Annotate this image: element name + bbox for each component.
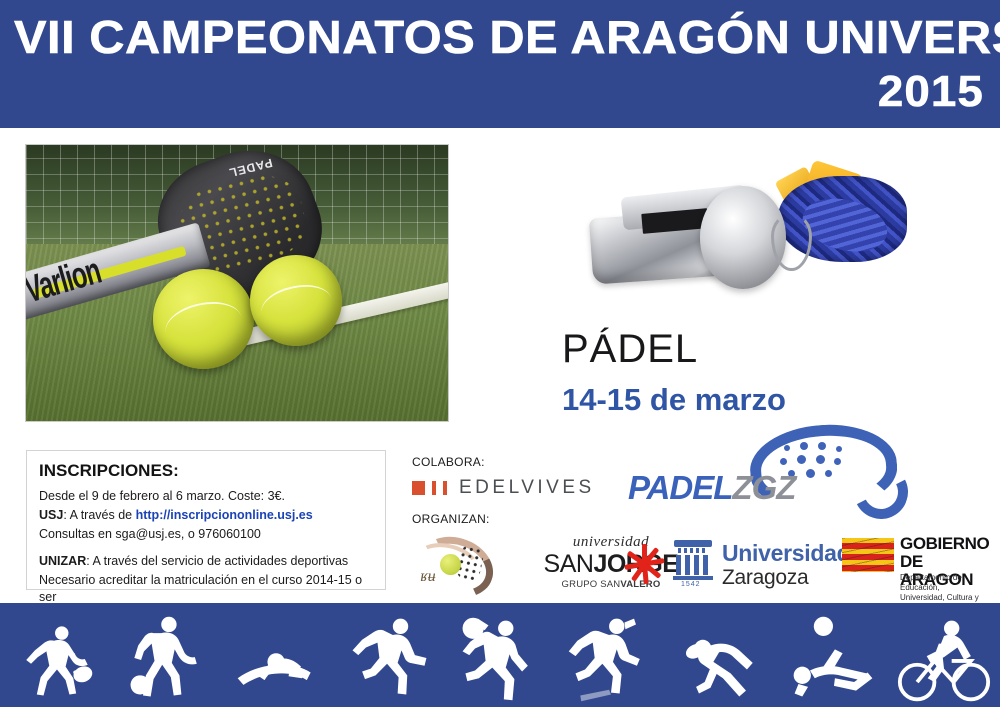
- edelvives-wordmark: EDELVIVES: [459, 477, 595, 499]
- ball-icon: [440, 554, 461, 575]
- padelzgz-logo: PADELZGZ: [622, 425, 892, 505]
- organizers-row: ʁʉ universidad SANJORGE GRUPO SANVALERO: [410, 530, 992, 592]
- edelvives-square-icon: [412, 481, 425, 495]
- unizar-building-icon: 1542: [672, 538, 714, 586]
- building-roof: [674, 540, 712, 547]
- inscriptions-requirement-line-1: Necesario acreditar la matriculación en …: [39, 572, 373, 606]
- inscriptions-heading: INSCRIPCIONES:: [39, 461, 373, 481]
- female-runner-silhouette: [563, 611, 659, 707]
- sanjorge-star-icon: [622, 542, 666, 586]
- header-year: 2015: [878, 70, 984, 114]
- edelvives-bar-icon: [443, 481, 447, 495]
- grupo-san: GRUPO SAN: [562, 579, 621, 590]
- racket-brand-text: Varlion: [25, 250, 105, 313]
- basketball-player-silhouette: [119, 611, 215, 707]
- usj-padel-mark-logo: ʁʉ: [412, 532, 494, 590]
- gobierno-line-1: GOBIERNO: [900, 535, 989, 553]
- sprinter-silhouette: [341, 611, 437, 707]
- unizar-line-2: Zaragoza: [722, 566, 808, 590]
- usj-text: : A través de: [63, 508, 135, 522]
- tennis-player-silhouette: [8, 611, 104, 707]
- inscriptions-usj-contact: Consultas en sga@usj.es, o 976060100: [39, 526, 373, 543]
- tennis-ball: [153, 269, 254, 368]
- swimmer-silhouette: [230, 611, 326, 707]
- usj-label: USJ: [39, 508, 63, 522]
- inscriptions-unizar-line: UNIZAR: A través del servicio de activid…: [39, 553, 373, 570]
- soccer-bicycle-kick-silhouette: [785, 611, 881, 707]
- edelvives-logo: EDELVIVES: [412, 477, 595, 499]
- organizan-label: ORGANIZAN:: [412, 512, 490, 526]
- page-title: VII CAMPEONATOS DE ARAGÓN UNIVERSITARIOS: [14, 14, 1000, 60]
- cyclist-silhouette: [896, 611, 992, 707]
- gobierno-sub-1: Departamento de Educación,: [900, 573, 962, 592]
- poster-header: VII CAMPEONATOS DE ARAGÓN UNIVERSITARIOS…: [0, 0, 1000, 128]
- unizar-label: UNIZAR: [39, 554, 86, 568]
- aragon-flag-icon: [842, 538, 894, 572]
- building-frieze: [678, 548, 708, 553]
- inscriptions-usj-line: USJ: A través de http://inscripciononlin…: [39, 507, 373, 524]
- padel-racket-and-balls-photo: Varlion PADEL: [25, 144, 449, 422]
- building-columns: [676, 555, 710, 575]
- sport-title: PÁDEL: [562, 327, 698, 372]
- padelzgz-word-zgz: ZGZ: [732, 469, 795, 506]
- unizar-founding-year: 1542: [681, 581, 701, 588]
- gobierno-de-aragon-logo: GOBIERNO DE ARAGON Departamento de Educa…: [842, 530, 994, 592]
- spacer: [39, 545, 373, 553]
- handball-player-silhouette: [452, 611, 548, 707]
- silhouette-band: [0, 603, 1000, 707]
- usj-registration-link[interactable]: http://inscripciononline.usj.es: [136, 508, 313, 522]
- inscriptions-dates: Desde el 9 de febrero al 6 marzo. Coste:…: [39, 488, 373, 505]
- unizar-text: : A través del servicio de actividades d…: [86, 554, 348, 568]
- rugby-player-silhouette: [674, 611, 770, 707]
- signature-mark-icon: ʁʉ: [420, 568, 436, 586]
- padelzgz-wordmark: PADELZGZ: [628, 469, 795, 507]
- inscriptions-box: INSCRIPCIONES: Desde el 9 de febrero al …: [26, 450, 386, 590]
- padelzgz-word-padel: PADEL: [628, 469, 732, 506]
- edelvives-bar-icon: [432, 481, 436, 495]
- building-base: [673, 576, 713, 580]
- colabora-label: COLABORA:: [412, 455, 485, 469]
- sport-date: 14-15 de marzo: [562, 382, 786, 418]
- unizar-line-1: Universidad: [722, 540, 850, 567]
- referee-whistle-photo: [560, 150, 950, 315]
- sanjorge-san: SAN: [544, 550, 594, 578]
- poster-root: VII CAMPEONATOS DE ARAGÓN UNIVERSITARIOS…: [0, 0, 1000, 707]
